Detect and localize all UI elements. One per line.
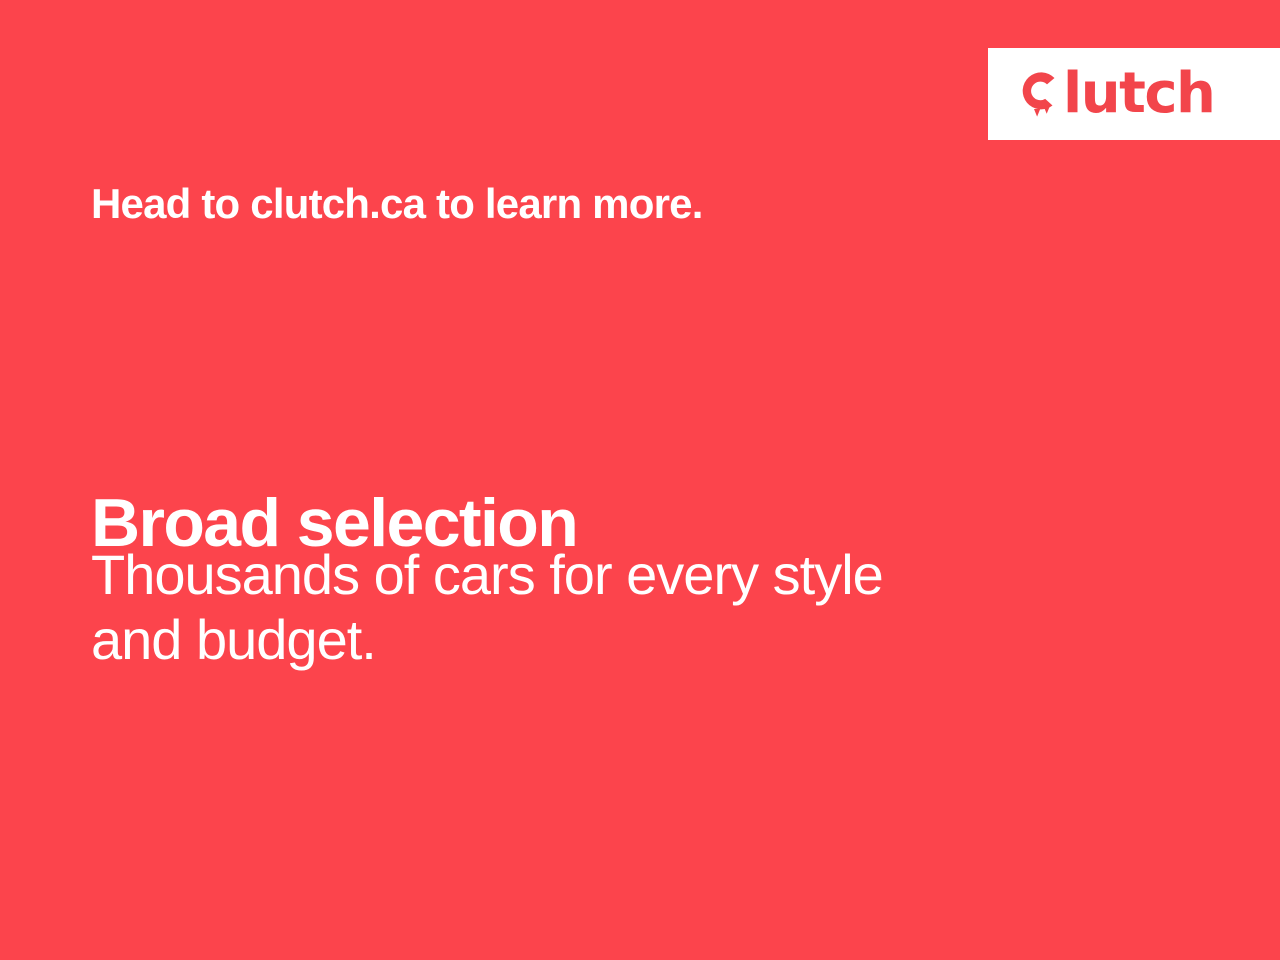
subhead-line: Thousands of cars for every style	[91, 543, 1051, 608]
clutch-disc-c-icon	[1014, 65, 1062, 123]
promo-slide: lutch Head to clutch.ca to learn more. B…	[0, 0, 1280, 960]
eyebrow-text: Head to clutch.ca to learn more.	[91, 180, 703, 228]
subhead-text: Thousands of cars for every style and bu…	[91, 543, 1051, 673]
clutch-logo-badge[interactable]: lutch	[988, 48, 1280, 140]
subhead-line: and budget.	[91, 608, 1051, 673]
clutch-logo-lockup: lutch	[1014, 65, 1214, 123]
clutch-wordmark: lutch	[1063, 66, 1214, 122]
